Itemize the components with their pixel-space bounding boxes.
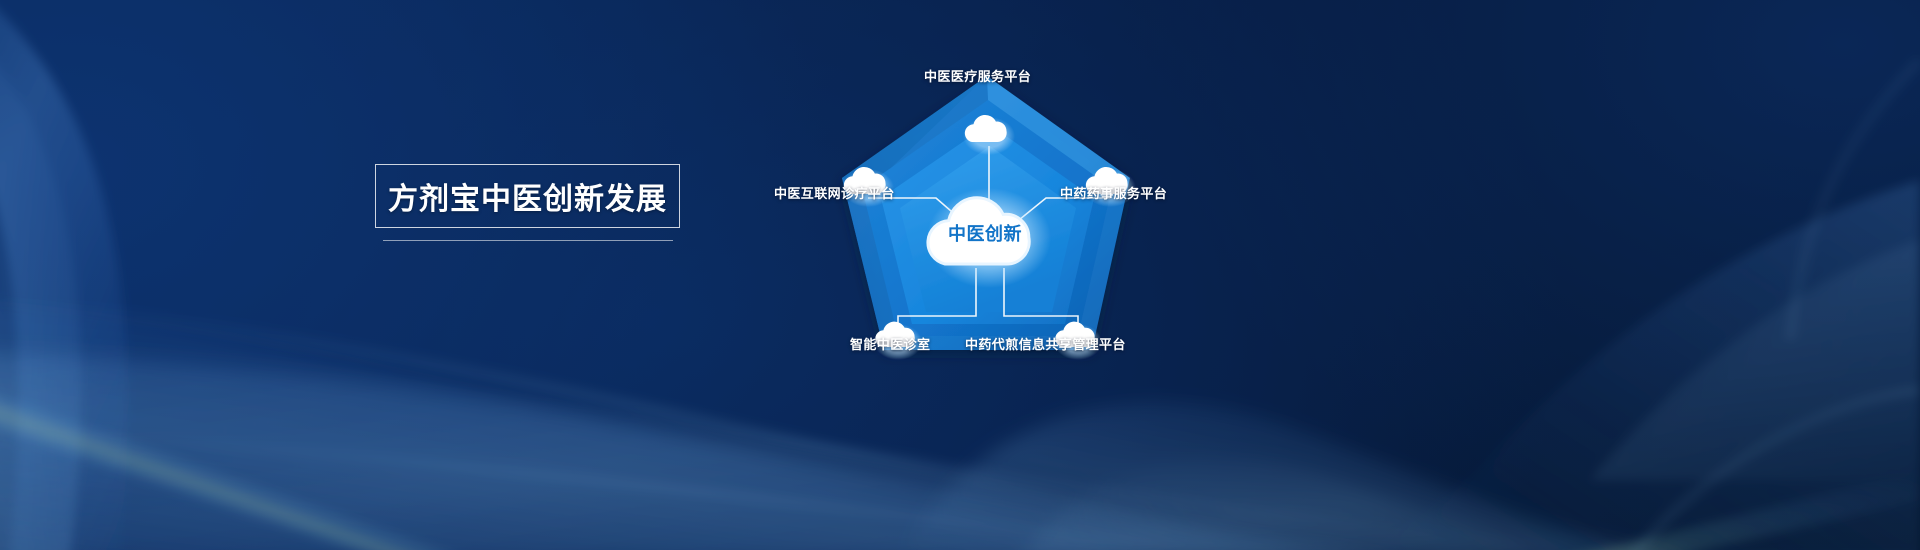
node-label-right: 中药药事服务平台 [1060,183,1167,202]
node-label-left: 中医互联网诊疗平台 [774,183,895,202]
page-title: 方剂宝中医创新发展 [388,174,667,218]
node-label-top: 中医医疗服务平台 [924,66,1031,85]
node-label-bottom-left: 智能中医诊室 [850,334,930,353]
banner-stage: 方剂宝中医创新发展 [0,0,1920,550]
title-box: 方剂宝中医创新发展 [375,164,680,228]
title-block: 方剂宝中医创新发展 [375,164,680,241]
node-label-bottom-right: 中药代煎信息共享管理平台 [965,334,1126,353]
platform-pentagon-diagram: 中医创新 中医医疗服务平台 中医互联网诊疗平台 中药药事服务平台 智能中医诊室 … [760,28,1280,408]
title-underline [383,240,673,241]
center-cloud-icon [927,188,1051,288]
